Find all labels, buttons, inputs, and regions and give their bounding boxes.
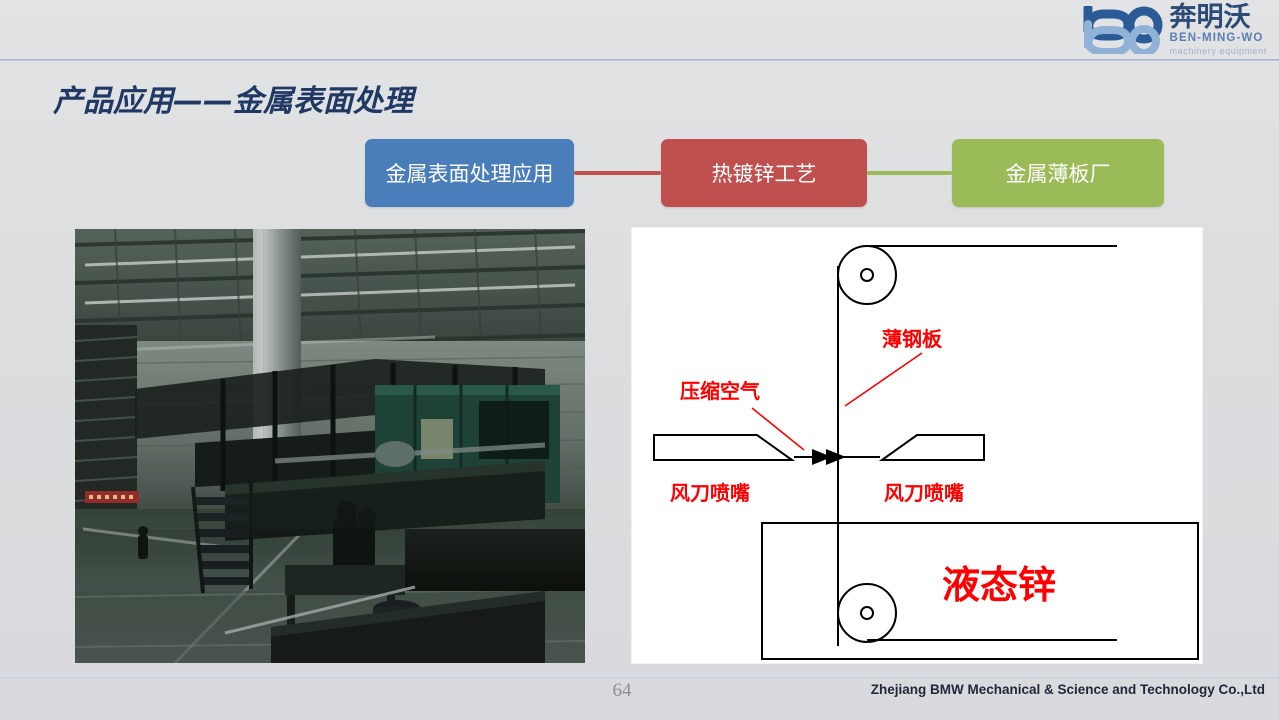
- footer-company-name: Zhejiang BMW Mechanical & Science and Te…: [871, 682, 1265, 697]
- footer-divider-line: [0, 676, 1279, 678]
- label-steel-plate: 薄钢板: [882, 327, 943, 351]
- factory-photo: [75, 229, 585, 663]
- page-title: 产品应用——金属表面处理: [53, 76, 413, 120]
- logo-tagline: machinery equipment: [1170, 47, 1267, 56]
- flow-box-application[interactable]: 金属表面处理应用: [365, 139, 574, 207]
- flow-connector-2: [867, 171, 952, 175]
- page-number: 64: [592, 680, 652, 702]
- flow-connector-1: [574, 171, 661, 175]
- slide-canvas: 奔明沃 BEN-MING-WO machinery equipment 产品应用…: [0, 0, 1279, 720]
- label-air-knife-right: 风刀喷嘴: [884, 481, 964, 505]
- flow-box-process[interactable]: 热镀锌工艺: [661, 139, 867, 207]
- label-compressed-air: 压缩空气: [680, 379, 760, 403]
- company-logo: 奔明沃 BEN-MING-WO machinery equipment: [1043, 4, 1267, 56]
- flow-box-factory[interactable]: 金属薄板厂: [952, 139, 1164, 207]
- logo-brand-cn: 奔明沃: [1170, 4, 1251, 31]
- logo-brand-en: BEN-MING-WO: [1170, 33, 1264, 45]
- process-flow: 金属表面处理应用 热镀锌工艺 金属薄板厂: [0, 139, 1279, 211]
- logo-bo-mark-icon: [1082, 6, 1168, 54]
- label-air-knife-left: 风刀喷嘴: [670, 481, 750, 505]
- galvanizing-schematic: 薄钢板 压缩空气 风刀喷嘴 风刀喷嘴 液态锌: [632, 228, 1202, 663]
- header-divider-line: [0, 58, 1279, 61]
- label-liquid-zinc: 液态锌: [942, 562, 1056, 607]
- logo-wordmark: 奔明沃 BEN-MING-WO machinery equipment: [1170, 4, 1267, 56]
